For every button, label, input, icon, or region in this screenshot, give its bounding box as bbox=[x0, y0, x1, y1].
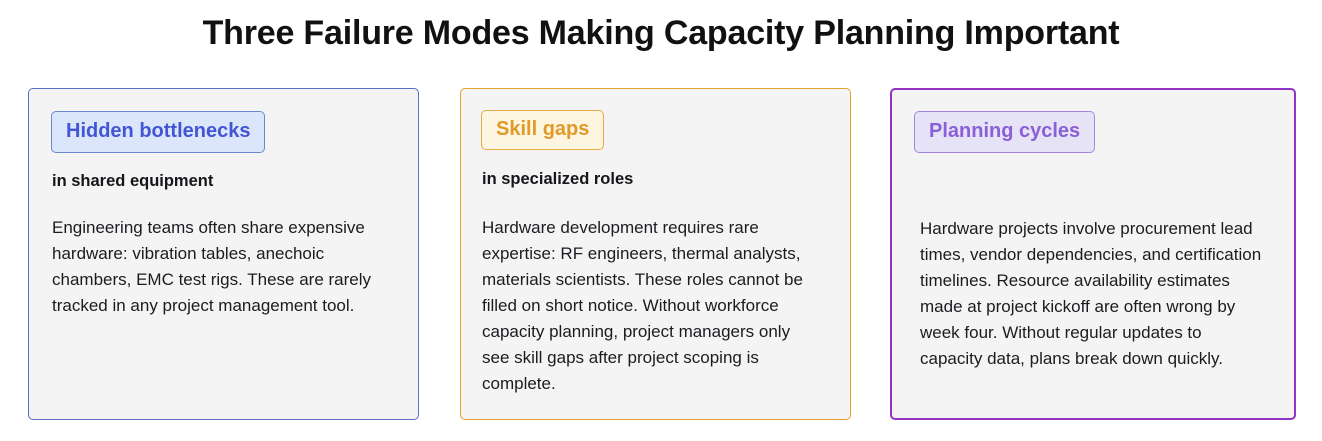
page-title: Three Failure Modes Making Capacity Plan… bbox=[0, 11, 1322, 55]
failure-mode-card-skill-gaps: Skill gaps in specialized roles Hardware… bbox=[460, 88, 851, 420]
card-badge-planning-cycles: Planning cycles bbox=[914, 111, 1095, 153]
card-body-planning-cycles: Hardware projects involve procurement le… bbox=[920, 216, 1268, 372]
card-badge-skill-gaps: Skill gaps bbox=[481, 110, 604, 150]
card-subtitle-hidden-bottlenecks: in shared equipment bbox=[52, 172, 213, 191]
failure-mode-card-group: Hidden bottlenecks in shared equipment E… bbox=[0, 88, 1322, 420]
failure-mode-card-planning-cycles: Planning cycles Hardware projects involv… bbox=[890, 88, 1296, 420]
card-subtitle-skill-gaps: in specialized roles bbox=[482, 170, 633, 189]
card-body-hidden-bottlenecks: Engineering teams often share expensive … bbox=[52, 215, 402, 319]
slide-container: Three Failure Modes Making Capacity Plan… bbox=[0, 0, 1322, 441]
failure-mode-card-hidden-bottlenecks: Hidden bottlenecks in shared equipment E… bbox=[28, 88, 419, 420]
card-badge-hidden-bottlenecks: Hidden bottlenecks bbox=[51, 111, 265, 153]
card-body-skill-gaps: Hardware development requires rare exper… bbox=[482, 215, 822, 397]
